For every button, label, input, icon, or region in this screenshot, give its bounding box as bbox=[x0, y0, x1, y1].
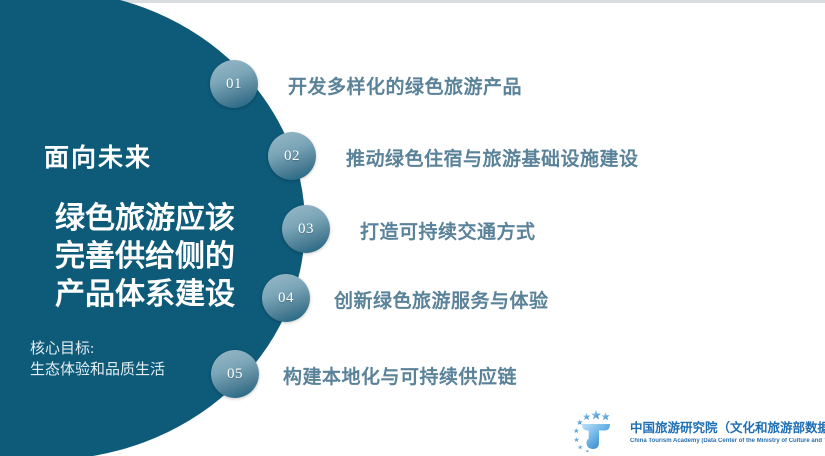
slide-canvas: 面向未来 绿色旅游应该 完善供给侧的 产品体系建设 核心目标: 生态体验和品质生… bbox=[0, 0, 825, 456]
step-circle-02[interactable]: 02 bbox=[268, 132, 316, 180]
panel-title-line-1: 绿色旅游应该 bbox=[30, 200, 260, 238]
panel-title-line-3: 产品体系建设 bbox=[30, 276, 260, 314]
step-number-01: 01 bbox=[226, 76, 242, 93]
step-circle-05[interactable]: 05 bbox=[211, 350, 259, 398]
step-number-04: 04 bbox=[278, 290, 294, 307]
step-circle-03[interactable]: 03 bbox=[282, 205, 330, 253]
logo-text-block: 中国旅游研究院（文化和旅游部数据中心） China Tourism Academ… bbox=[630, 417, 825, 444]
step-number-05: 05 bbox=[227, 366, 243, 383]
organization-logo: 中国旅游研究院（文化和旅游部数据中心） China Tourism Academ… bbox=[570, 408, 825, 452]
step-number-02: 02 bbox=[284, 148, 300, 165]
panel-eyebrow: 面向未来 bbox=[44, 138, 152, 174]
step-label-04: 创新绿色旅游服务与体验 bbox=[334, 286, 549, 313]
step-circle-04[interactable]: 04 bbox=[262, 274, 310, 322]
logo-name-cn: 中国旅游研究院（文化和旅游部数据中心） bbox=[630, 417, 825, 436]
logo-name-en: China Tourism Academy (Data Center of th… bbox=[630, 438, 825, 444]
panel-title: 绿色旅游应该 完善供给侧的 产品体系建设 bbox=[30, 200, 260, 314]
panel-goal-block: 核心目标: 生态体验和品质生活 bbox=[30, 339, 165, 382]
step-label-05: 构建本地化与可持续供应链 bbox=[283, 362, 517, 389]
step-label-03: 打造可持续交通方式 bbox=[360, 217, 536, 244]
step-label-02: 推动绿色住宿与旅游基础设施建设 bbox=[346, 144, 639, 171]
step-circle-01[interactable]: 01 bbox=[210, 60, 258, 108]
panel-title-line-2: 完善供给侧的 bbox=[30, 238, 260, 276]
step-number-03: 03 bbox=[298, 221, 314, 238]
panel-goal-label: 核心目标: bbox=[30, 339, 165, 360]
step-label-01: 开发多样化的绿色旅游产品 bbox=[288, 72, 522, 99]
panel-goal-value: 生态体验和品质生活 bbox=[30, 360, 165, 381]
tourism-academy-emblem-icon bbox=[570, 408, 622, 452]
